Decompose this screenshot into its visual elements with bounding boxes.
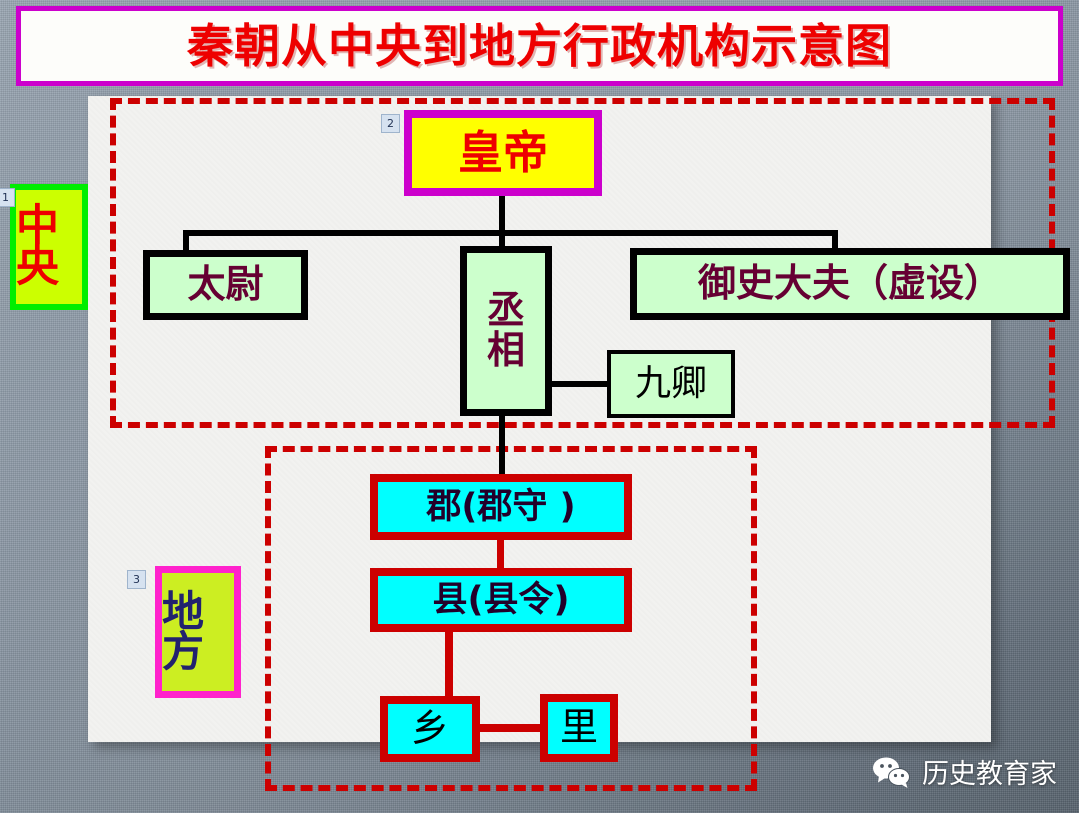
connector-drop-taiwei [183,230,189,252]
slide-title-bar: 秦朝从中央到地方行政机构示意图 [16,6,1063,86]
node-emperor[interactable]: 皇帝 [404,110,602,196]
marker-badge-1: 1 [0,188,15,207]
connector-xiang-li [478,724,542,732]
node-xian-county[interactable]: 县(县令) [370,568,632,632]
connector-jun-xian [497,538,504,570]
watermark: 历史教育家 [872,752,1057,791]
page-title: 秦朝从中央到地方行政机构示意图 [187,23,892,69]
side-label-central: 中央 [10,184,88,310]
side-label-local: 地方 [155,566,241,698]
wechat-icon [872,756,912,788]
connector-emperor-stem [499,196,505,232]
marker-badge-3: 3 [127,570,146,589]
node-li-village[interactable]: 里 [540,694,618,762]
watermark-text: 历史教育家 [922,752,1057,791]
connector-chengxiang-jiuqing [552,381,610,387]
node-jun-commandery[interactable]: 郡(郡守 ) [370,474,632,540]
node-jiuqing[interactable]: 九卿 [607,350,735,418]
connector-xian-xiang [445,630,453,698]
marker-badge-2: 2 [381,114,400,133]
connector-central-bus [183,230,838,236]
node-chengxiang[interactable]: 丞 相 [460,246,552,416]
slide-canvas: 秦朝从中央到地方行政机构示意图 中央 地方 1 2 3 皇帝 太尉 丞 相 御史… [0,0,1079,813]
node-taiwei[interactable]: 太尉 [143,250,308,320]
node-xiang-township[interactable]: 乡 [380,696,480,762]
connector-chengxiang-jun [499,416,505,476]
node-yushi-dafu[interactable]: 御史大夫（虚设） [630,248,1070,320]
